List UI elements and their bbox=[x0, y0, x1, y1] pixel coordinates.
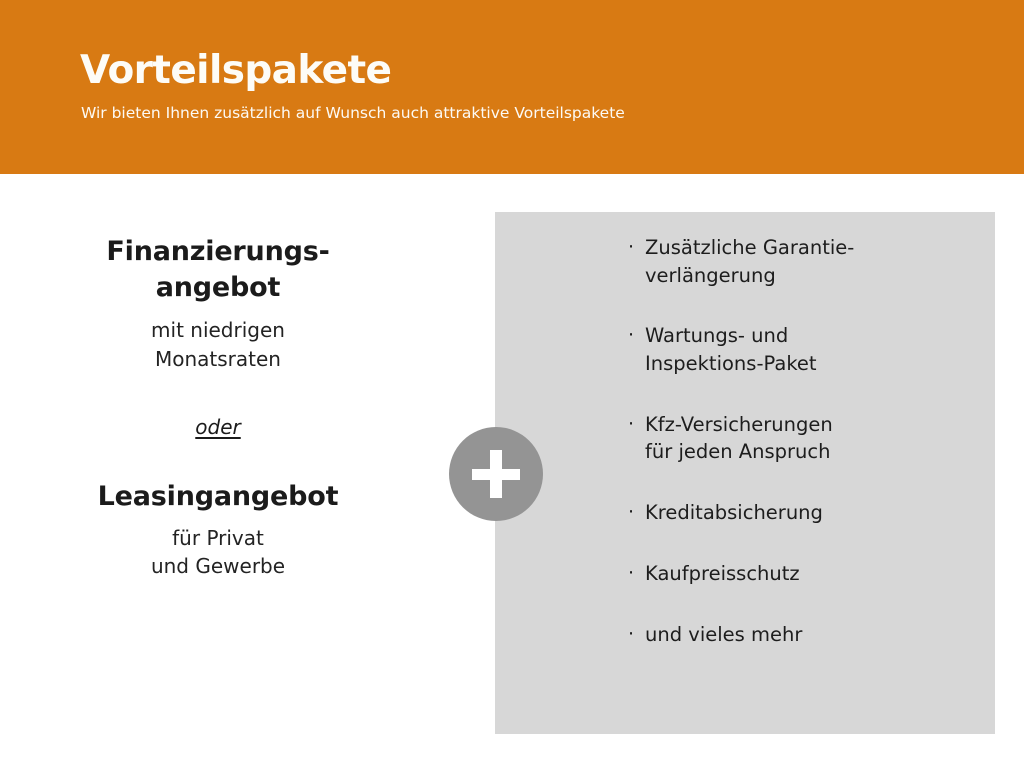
offer-separator: oder bbox=[47, 415, 389, 439]
list-item: · Zusätzliche Garantie- verlängerung bbox=[628, 234, 968, 289]
bullet-icon: · bbox=[628, 621, 645, 648]
offers-column: Finanzierungs- angebot mit niedrigen Mon… bbox=[47, 234, 389, 580]
header-banner: Vorteilspakete Wir bieten Ihnen zusätzli… bbox=[0, 0, 1024, 174]
list-item: · und vieles mehr bbox=[628, 621, 968, 649]
bullet-icon: · bbox=[628, 560, 645, 587]
offer-block-financing: Finanzierungs- angebot mit niedrigen Mon… bbox=[47, 234, 389, 373]
list-item: · Kaufpreisschutz bbox=[628, 560, 968, 588]
list-item-label: Kreditabsicherung bbox=[645, 499, 968, 527]
list-item: · Wartungs- und Inspektions-Paket bbox=[628, 322, 968, 377]
leasing-offer-detail: für Privat und Gewerbe bbox=[47, 524, 389, 581]
plus-icon bbox=[449, 427, 543, 521]
list-item-label: Kfz-Versicherungen für jeden Anspruch bbox=[645, 411, 968, 466]
list-item-label: und vieles mehr bbox=[645, 621, 968, 649]
bullet-icon: · bbox=[628, 322, 645, 349]
list-item: · Kreditabsicherung bbox=[628, 499, 968, 527]
list-item-label: Kaufpreisschutz bbox=[645, 560, 968, 588]
bullet-icon: · bbox=[628, 411, 645, 438]
financing-offer-detail: mit niedrigen Monatsraten bbox=[47, 316, 389, 373]
benefits-panel: · Zusätzliche Garantie- verlängerung · W… bbox=[495, 212, 995, 734]
plus-icon-vertical-bar bbox=[490, 450, 502, 498]
content-stage: · Zusätzliche Garantie- verlängerung · W… bbox=[0, 174, 1024, 768]
financing-offer-heading: Finanzierungs- angebot bbox=[47, 234, 389, 305]
benefits-list: · Zusätzliche Garantie- verlängerung · W… bbox=[628, 234, 968, 648]
page-title: Vorteilspakete bbox=[80, 51, 391, 90]
list-item-label: Zusätzliche Garantie- verlängerung bbox=[645, 234, 968, 289]
list-item-label: Wartungs- und Inspektions-Paket bbox=[645, 322, 968, 377]
page-subtitle: Wir bieten Ihnen zusätzlich auf Wunsch a… bbox=[81, 105, 625, 122]
bullet-icon: · bbox=[628, 499, 645, 526]
leasing-offer-heading: Leasingangebot bbox=[47, 479, 389, 515]
offer-block-leasing: Leasingangebot für Privat und Gewerbe bbox=[47, 479, 389, 580]
bullet-icon: · bbox=[628, 234, 645, 261]
offer-separator-label: oder bbox=[195, 415, 240, 439]
list-item: · Kfz-Versicherungen für jeden Anspruch bbox=[628, 411, 968, 466]
